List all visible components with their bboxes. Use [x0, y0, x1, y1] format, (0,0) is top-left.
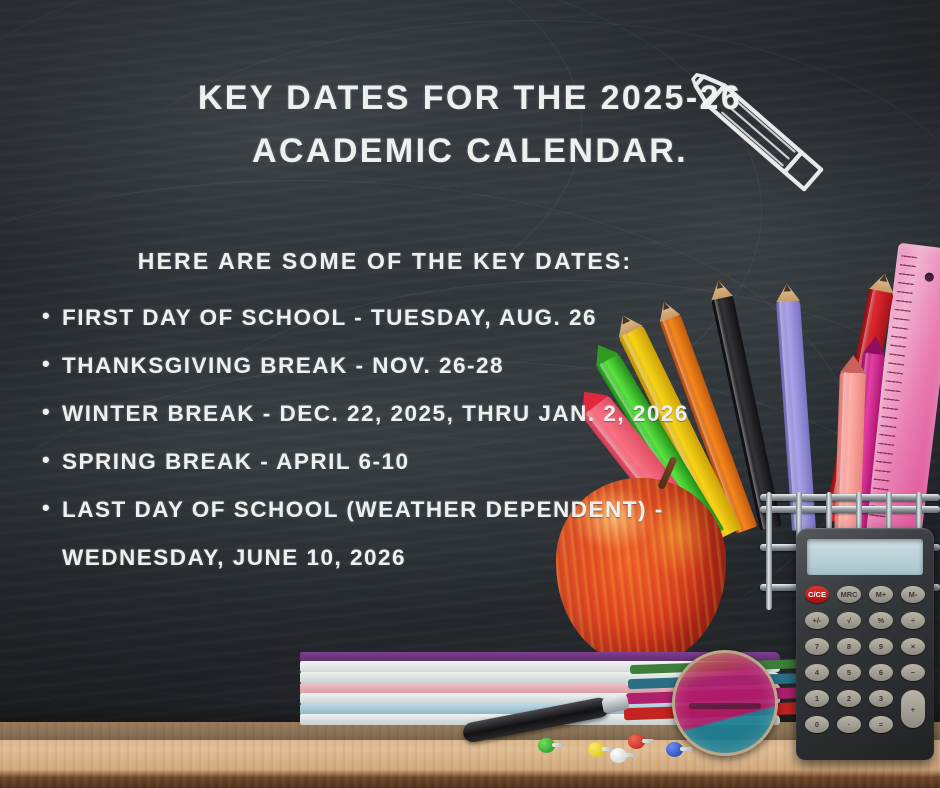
calculator-key-sqrt[interactable]: √ [837, 612, 861, 629]
calculator-key-2[interactable]: 2 [837, 690, 861, 707]
calculator-key-mminus[interactable]: M- [901, 586, 925, 603]
push-pin-green [538, 738, 564, 753]
calculator-key-9[interactable]: 9 [869, 638, 893, 655]
list-item-text: Spring break - April 6-10 [62, 449, 410, 474]
list-item-text: Last day of school (weather dependent) - [62, 497, 664, 522]
calculator-key-4[interactable]: 4 [805, 664, 829, 681]
calculator-key-1[interactable]: 1 [805, 690, 829, 707]
calculator-key-3[interactable]: 3 [869, 690, 893, 707]
ruler-hole [924, 272, 934, 282]
calculator-key-decimal[interactable]: · [837, 716, 861, 733]
list-item-text: Winter break - Dec. 22, 2025, thru Jan. … [62, 401, 689, 426]
magnifier-reflection [689, 703, 761, 709]
push-pin-white [610, 748, 636, 763]
magnifying-glass [672, 650, 778, 756]
calculator-key-0[interactable]: 0 [805, 716, 829, 733]
key-dates-list: • First day of school - Tuesday, Aug. 26… [40, 305, 850, 593]
calculator-key-multiply[interactable]: × [901, 638, 925, 655]
calculator-key-6[interactable]: 6 [869, 664, 893, 681]
calculator-key-8[interactable]: 8 [837, 638, 861, 655]
list-item: • Thanksgiving break - Nov. 26-28 [40, 353, 850, 379]
calculator-key-equals[interactable]: = [869, 716, 893, 733]
calculator-key-7[interactable]: 7 [805, 638, 829, 655]
calculator-keypad[interactable]: C/CE MRC M+ M- +/- √ % ÷ 7 8 9 × 4 5 6 −… [805, 586, 925, 750]
poster-canvas: Key dates for the 2025-26 Academic Calen… [0, 0, 940, 788]
list-item: • First day of school - Tuesday, Aug. 26 [40, 305, 850, 331]
calculator-key-mplus[interactable]: M+ [869, 586, 893, 603]
calculator-key-sign[interactable]: +/- [805, 612, 829, 629]
bullet-marker: • [42, 497, 51, 519]
list-item-continuation: Wednesday, June 10, 2026 [62, 545, 850, 571]
calculator-key-plus[interactable]: + [901, 690, 925, 728]
pencil-doodle-icon [672, 64, 852, 204]
subtitle: Here are some of the key dates: [0, 248, 770, 275]
list-item: • Winter break - Dec. 22, 2025, thru Jan… [40, 401, 850, 427]
calculator-key-percent[interactable]: % [869, 612, 893, 629]
title-line-1: Key dates for the 2025-26 [198, 79, 742, 117]
push-pin-red [628, 734, 654, 749]
calculator-key-minus[interactable]: − [901, 664, 925, 681]
list-item: • Last day of school (weather dependent)… [40, 497, 850, 571]
calculator-key-5[interactable]: 5 [837, 664, 861, 681]
list-item: • Spring break - April 6-10 [40, 449, 850, 475]
bullet-marker: • [42, 401, 51, 423]
list-item-text: Thanksgiving break - Nov. 26-28 [62, 353, 504, 378]
calculator-key-divide[interactable]: ÷ [901, 612, 925, 629]
bullet-marker: • [42, 449, 51, 471]
push-pin-blue [666, 742, 692, 757]
list-item-text: First day of school - Tuesday, Aug. 26 [62, 305, 597, 330]
bullet-marker: • [42, 305, 51, 327]
bullet-marker: • [42, 353, 51, 375]
